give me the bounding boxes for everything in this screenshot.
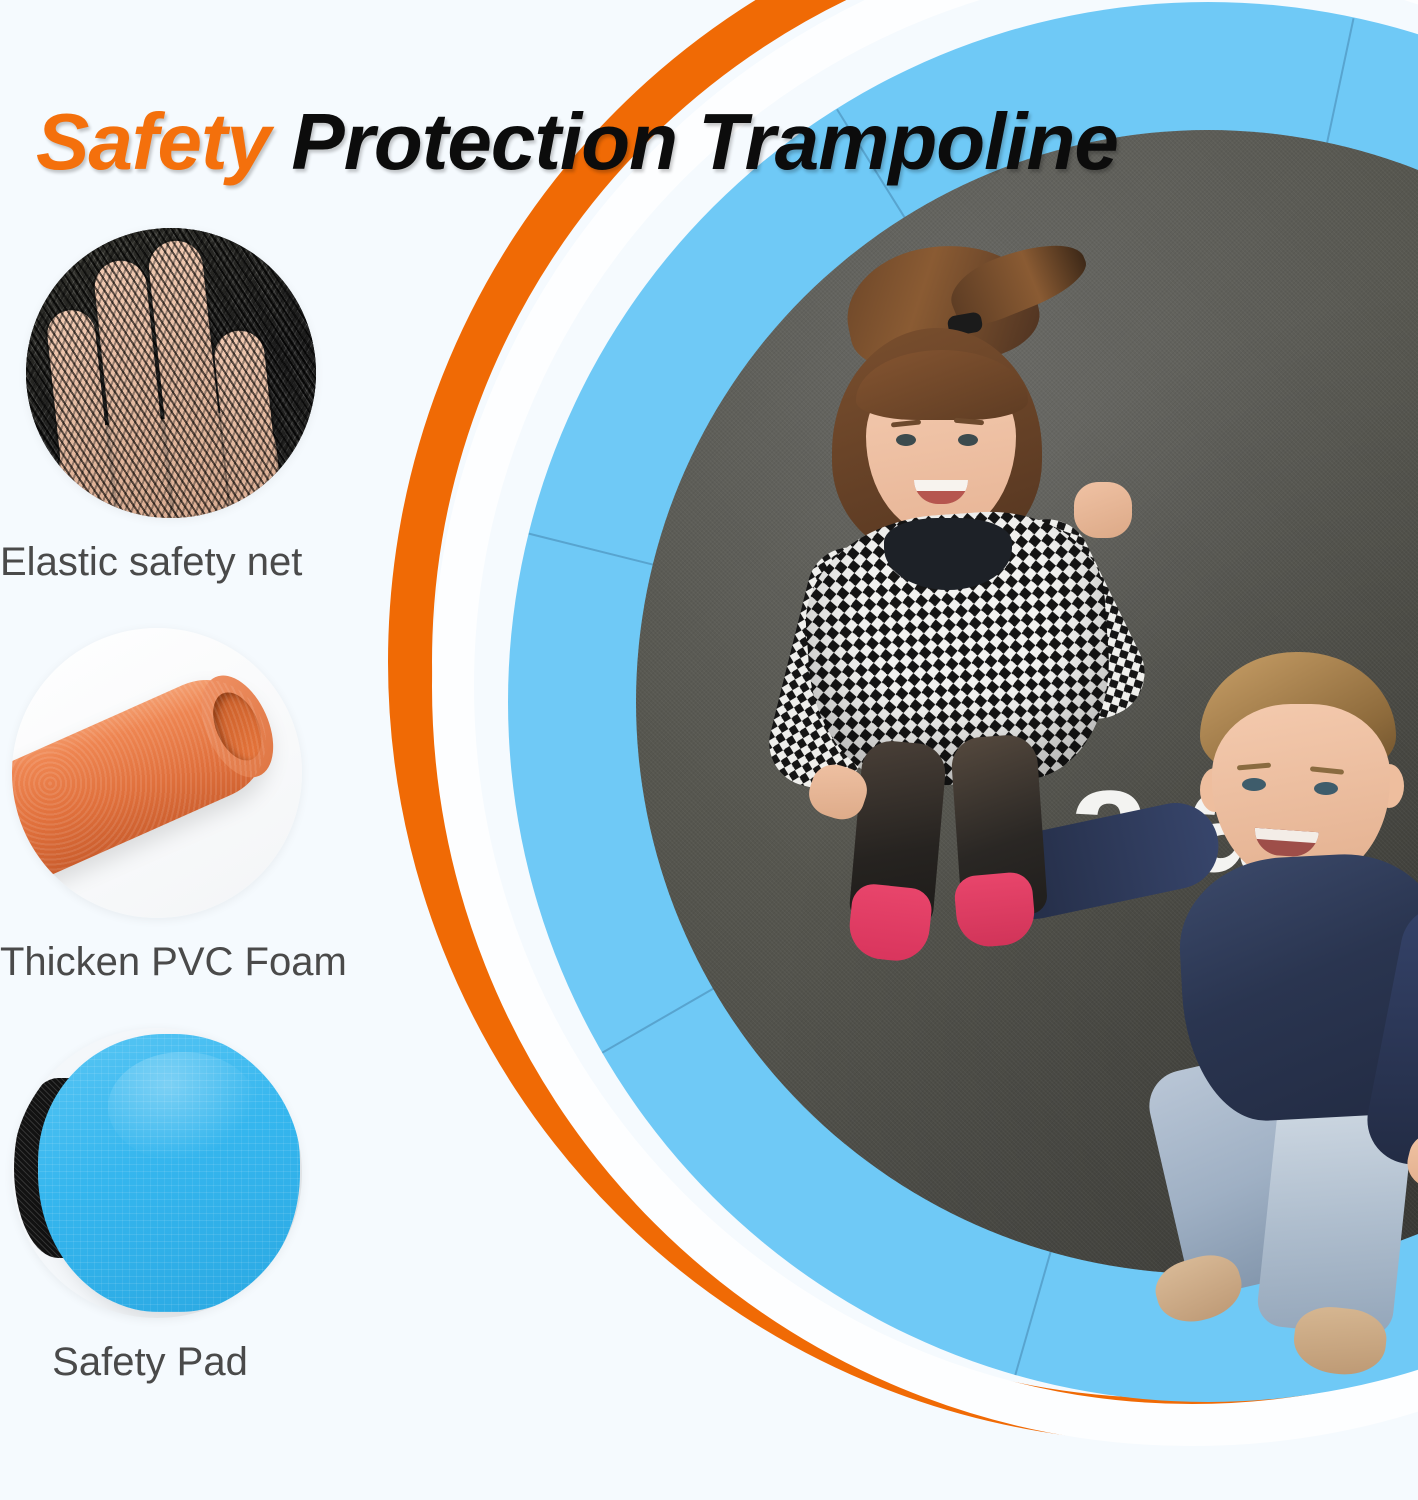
finger <box>45 308 116 518</box>
foam-tube-end <box>187 665 288 789</box>
safety-pad-icon <box>12 1028 302 1318</box>
girl-eye-left <box>896 434 916 446</box>
girl-teeth <box>914 480 968 491</box>
girl-eye-right <box>958 434 978 446</box>
foam-tube-hole <box>203 685 271 768</box>
feature-list: Elastic safety net Thicken PVC Foam Safe… <box>0 228 380 1428</box>
poster-canvas: a af <box>0 0 1418 1500</box>
pvc-foam-icon <box>12 628 302 918</box>
girl-hand-right <box>1074 482 1132 538</box>
boy-eye-right <box>1314 782 1338 795</box>
pad-highlight <box>108 1052 258 1162</box>
feature-label: Thicken PVC Foam <box>0 940 380 984</box>
girl-jumping <box>780 246 1180 946</box>
girl-sock-right <box>953 871 1037 950</box>
boy-eye-left <box>1242 778 1266 791</box>
feature-label: Elastic safety net <box>0 540 380 584</box>
trampoline-photo: a af <box>508 2 1418 1402</box>
feature-item-safety-pad[interactable]: Safety Pad <box>0 1028 380 1384</box>
feature-label: Safety Pad <box>0 1340 300 1384</box>
pad-fabric <box>38 1034 300 1312</box>
page-title: Safety Protection Trampoline <box>36 96 1118 188</box>
foam-tube <box>12 661 285 882</box>
hand-on-net <box>26 228 316 518</box>
safety-net-icon <box>26 228 316 518</box>
title-rest: Protection Trampoline <box>270 97 1118 186</box>
finger <box>146 238 229 518</box>
feature-item-safety-net[interactable]: Elastic safety net <box>0 228 380 584</box>
palm <box>55 408 284 518</box>
finger <box>92 258 172 518</box>
finger <box>212 328 281 516</box>
feature-item-pvc-foam[interactable]: Thicken PVC Foam <box>0 628 380 984</box>
title-accent-word: Safety <box>36 97 270 186</box>
